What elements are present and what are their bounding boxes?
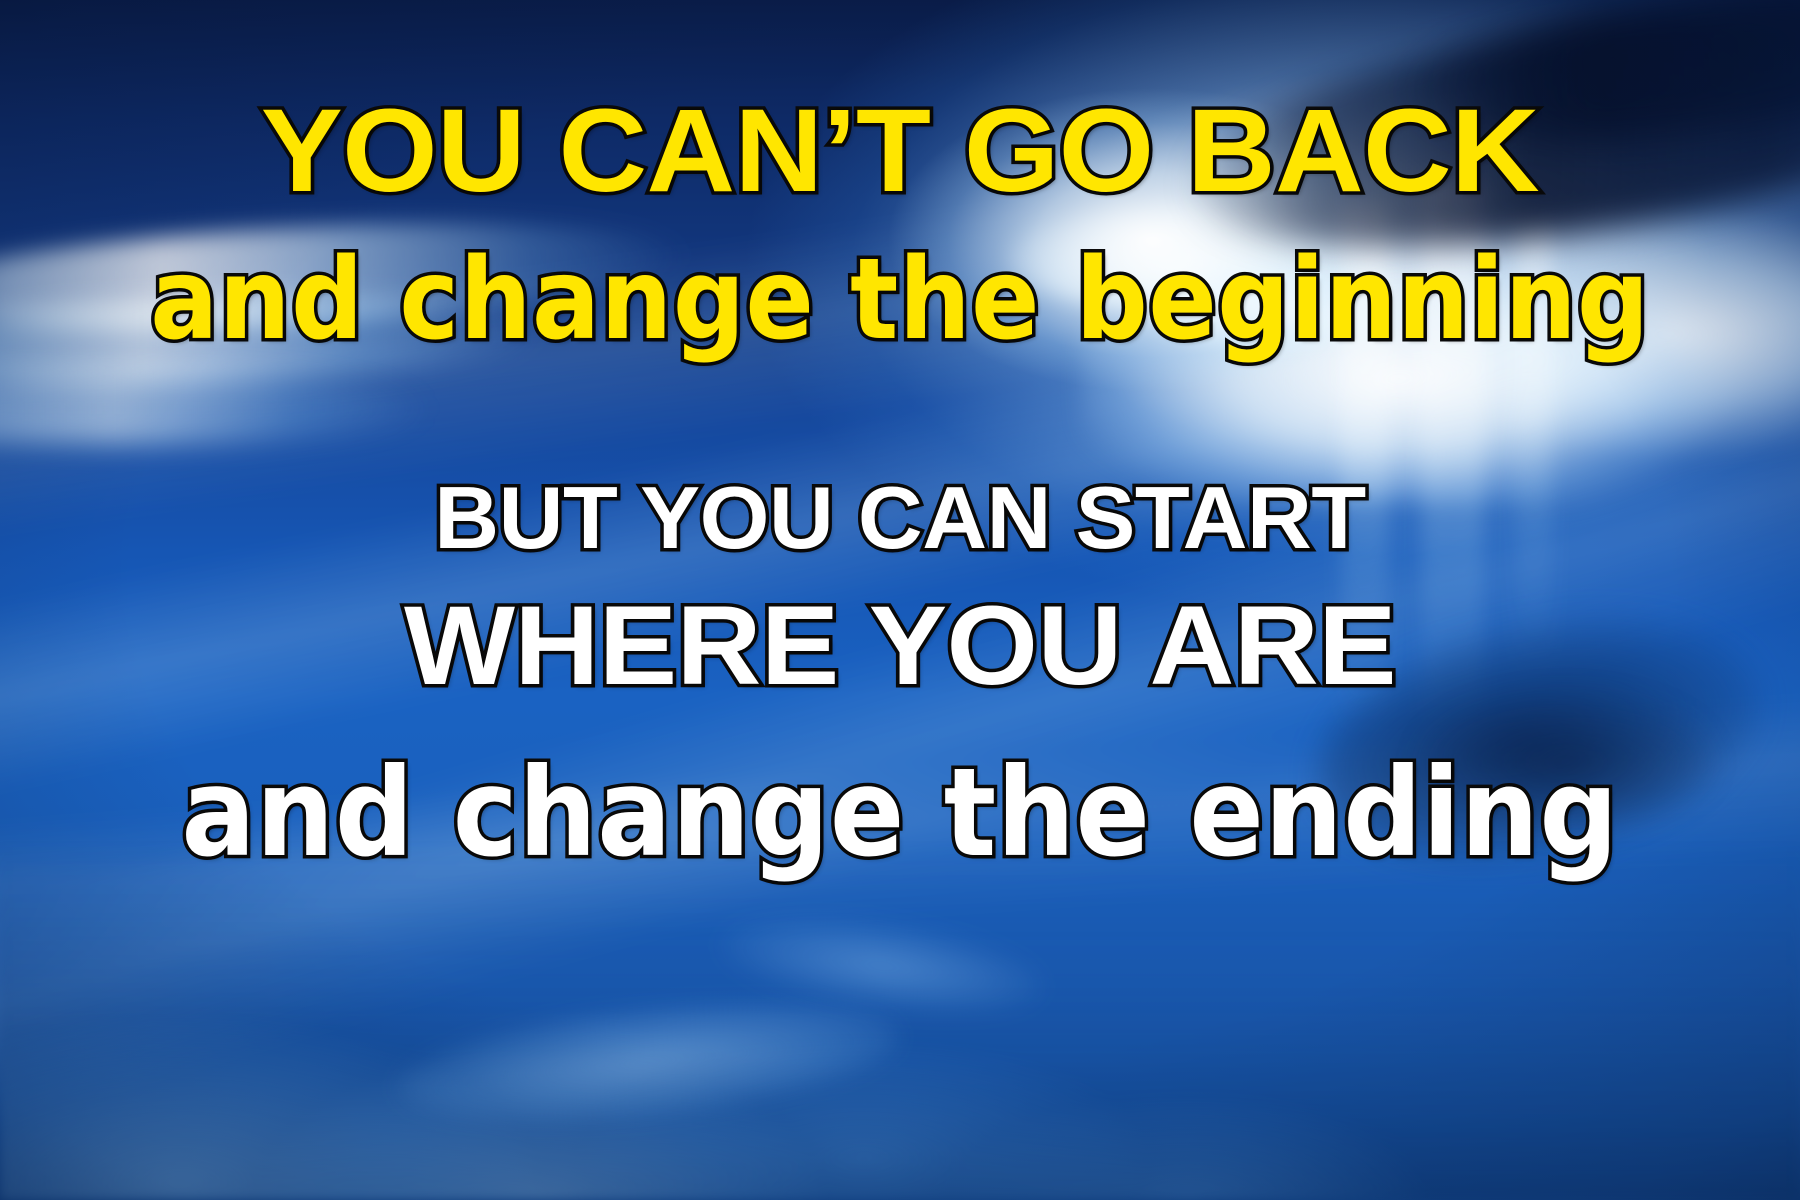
quote-poster: YOU CAN’T GO BACK and change the beginni…	[0, 0, 1800, 1200]
quote-text-block: YOU CAN’T GO BACK and change the beginni…	[0, 0, 1800, 1200]
quote-line-3: BUT YOU CAN START	[0, 474, 1800, 562]
quote-line-1: YOU CAN’T GO BACK	[0, 92, 1800, 210]
quote-line-2: and change the beginning	[0, 244, 1800, 356]
quote-line-4: WHERE YOU ARE	[0, 590, 1800, 702]
quote-line-5: and change the ending	[0, 752, 1800, 874]
